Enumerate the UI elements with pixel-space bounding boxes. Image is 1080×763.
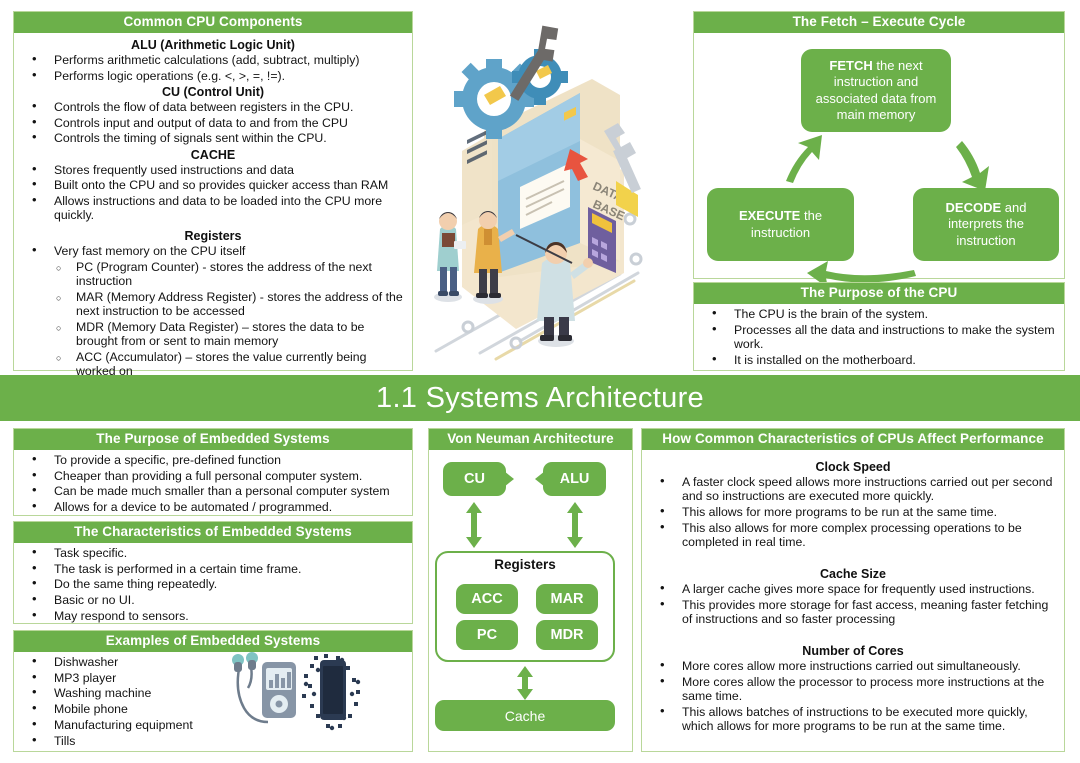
list-item: More cores allow more instructions carri… — [646, 659, 1060, 673]
subhead-clock-speed: Clock Speed — [646, 460, 1060, 474]
panel-header-von-neuman-architecture: Von Neuman Architecture — [429, 429, 632, 450]
panel-body-common-cpu-components: ALU (Arithmetic Logic Unit) Performs ari… — [14, 33, 412, 384]
panel-header-characteristics-of-embedded-systems: The Characteristics of Embedded Systems — [14, 522, 412, 543]
subhead-registers: Registers — [18, 229, 408, 243]
list-item: Controls the flow of data between regist… — [18, 100, 408, 114]
vn-registers-group: Registers ACC MAR PC MDR — [435, 551, 615, 662]
list-item: Performs logic operations (e.g. <, >, =,… — [18, 69, 408, 83]
list-item: MAR (Memory Address Register) - stores t… — [18, 290, 408, 318]
list-item: PC (Program Counter) - stores the addres… — [18, 260, 408, 288]
panel-characteristics-of-embedded-systems: The Characteristics of Embedded Systems … — [13, 521, 413, 624]
von-neuman-diagram: CU ALU Registers ACC MAR — [429, 450, 632, 751]
list-item: Very fast memory on the CPU itself — [18, 244, 408, 258]
panel-header-fetch-execute-cycle: The Fetch – Execute Cycle — [694, 12, 1064, 33]
list-item: To provide a specific, pre-defined funct… — [18, 453, 408, 467]
list-clock-speed: A faster clock speed allows more instruc… — [646, 475, 1060, 549]
list-item: Task specific. — [18, 546, 408, 560]
list-purpose-of-cpu: The CPU is the brain of the system. Proc… — [698, 307, 1060, 367]
list-cu: Controls the flow of data between regist… — [18, 100, 408, 146]
list-item: This allows for more programs to be run … — [646, 505, 1060, 519]
vn-mdr-box[interactable]: MDR — [536, 620, 598, 650]
panel-body-cpu-performance: Clock Speed A faster clock speed allows … — [642, 450, 1064, 739]
list-cache: Stores frequently used instructions and … — [18, 163, 408, 223]
list-item: Allows instructions and data to be loade… — [18, 194, 408, 222]
list-item: The CPU is the brain of the system. — [698, 307, 1060, 321]
list-item: More cores allow the processor to proces… — [646, 675, 1060, 703]
list-item: It is installed on the motherboard. — [698, 353, 1060, 367]
panel-purpose-of-cpu: The Purpose of the CPU The CPU is the br… — [693, 282, 1065, 371]
list-item: Built onto the CPU and so provides quick… — [18, 178, 408, 192]
list-item: This also allows for more complex proces… — [646, 521, 1060, 549]
subhead-alu: ALU (Arithmetic Logic Unit) — [18, 38, 408, 52]
page-title-banner: 1.1 Systems Architecture — [0, 375, 1080, 421]
panel-von-neuman-architecture: Von Neuman Architecture CU ALU — [428, 428, 633, 752]
panel-header-cpu-performance: How Common Characteristics of CPUs Affec… — [642, 429, 1064, 450]
panel-body-purpose-of-embedded-systems: To provide a specific, pre-defined funct… — [14, 450, 412, 520]
panel-header-purpose-of-embedded-systems: The Purpose of Embedded Systems — [14, 429, 412, 450]
list-item: May respond to sensors. — [18, 609, 408, 623]
list-item: A faster clock speed allows more instruc… — [646, 475, 1060, 503]
panel-fetch-execute-cycle: The Fetch – Execute Cycle FETCH the next… — [693, 11, 1065, 279]
list-number-of-cores: More cores allow more instructions carri… — [646, 659, 1060, 733]
systems-illustration: DATA BASE — [424, 11, 690, 371]
list-item: This provides more storage for fast acce… — [646, 598, 1060, 626]
panel-purpose-of-embedded-systems: The Purpose of Embedded Systems To provi… — [13, 428, 413, 516]
embedded-devices-illustration — [228, 648, 368, 736]
list-item: Cheaper than providing a full personal c… — [18, 469, 408, 483]
vn-pc-box[interactable]: PC — [456, 620, 518, 650]
list-item: MDR (Memory Data Register) – stores the … — [18, 320, 408, 348]
vn-registers-title: Registers — [437, 557, 613, 572]
vn-acc-box[interactable]: ACC — [456, 584, 518, 614]
vn-mar-box[interactable]: MAR — [536, 584, 598, 614]
panel-common-cpu-components: Common CPU Components ALU (Arithmetic Lo… — [13, 11, 413, 371]
subhead-cache: CACHE — [18, 148, 408, 162]
list-cache-size: A larger cache gives more space for freq… — [646, 582, 1060, 626]
page-title: 1.1 Systems Architecture — [376, 382, 704, 415]
list-item: A larger cache gives more space for freq… — [646, 582, 1060, 596]
cycle-arrows — [694, 33, 1066, 283]
list-alu: Performs arithmetic calculations (add, s… — [18, 53, 408, 83]
subhead-cu: CU (Control Unit) — [18, 85, 408, 99]
list-item: Can be made much smaller than a personal… — [18, 484, 408, 498]
panel-cpu-performance: How Common Characteristics of CPUs Affec… — [641, 428, 1065, 752]
list-characteristics-of-embedded-systems: Task specific. The task is performed in … — [18, 546, 408, 623]
subhead-cache-size: Cache Size — [646, 567, 1060, 581]
list-purpose-of-embedded-systems: To provide a specific, pre-defined funct… — [18, 453, 408, 514]
list-item: This allows batches of instructions to b… — [646, 705, 1060, 733]
list-registers: Very fast memory on the CPU itself PC (P… — [18, 244, 408, 378]
panel-body-characteristics-of-embedded-systems: Task specific. The task is performed in … — [14, 543, 412, 629]
panel-header-common-cpu-components: Common CPU Components — [14, 12, 412, 33]
list-item: Allows for a device to be automated / pr… — [18, 500, 408, 514]
list-item: Performs arithmetic calculations (add, s… — [18, 53, 408, 67]
list-item: Do the same thing repeatedly. — [18, 577, 408, 591]
list-item: Controls the timing of signals sent with… — [18, 131, 408, 145]
vn-cache-box[interactable]: Cache — [435, 700, 615, 731]
subhead-number-of-cores: Number of Cores — [646, 644, 1060, 658]
panel-header-purpose-of-cpu: The Purpose of the CPU — [694, 283, 1064, 304]
fetch-execute-diagram: FETCH the next instruction and associate… — [694, 33, 1064, 283]
list-item: Processes all the data and instructions … — [698, 323, 1060, 351]
panel-body-purpose-of-cpu: The CPU is the brain of the system. Proc… — [694, 304, 1064, 372]
list-item: Stores frequently used instructions and … — [18, 163, 408, 177]
list-item: Basic or no UI. — [18, 593, 408, 607]
list-item: The task is performed in a certain time … — [18, 562, 408, 576]
list-item: Controls input and output of data to and… — [18, 116, 408, 130]
list-item: ACC (Accumulator) – stores the value cur… — [18, 350, 408, 378]
